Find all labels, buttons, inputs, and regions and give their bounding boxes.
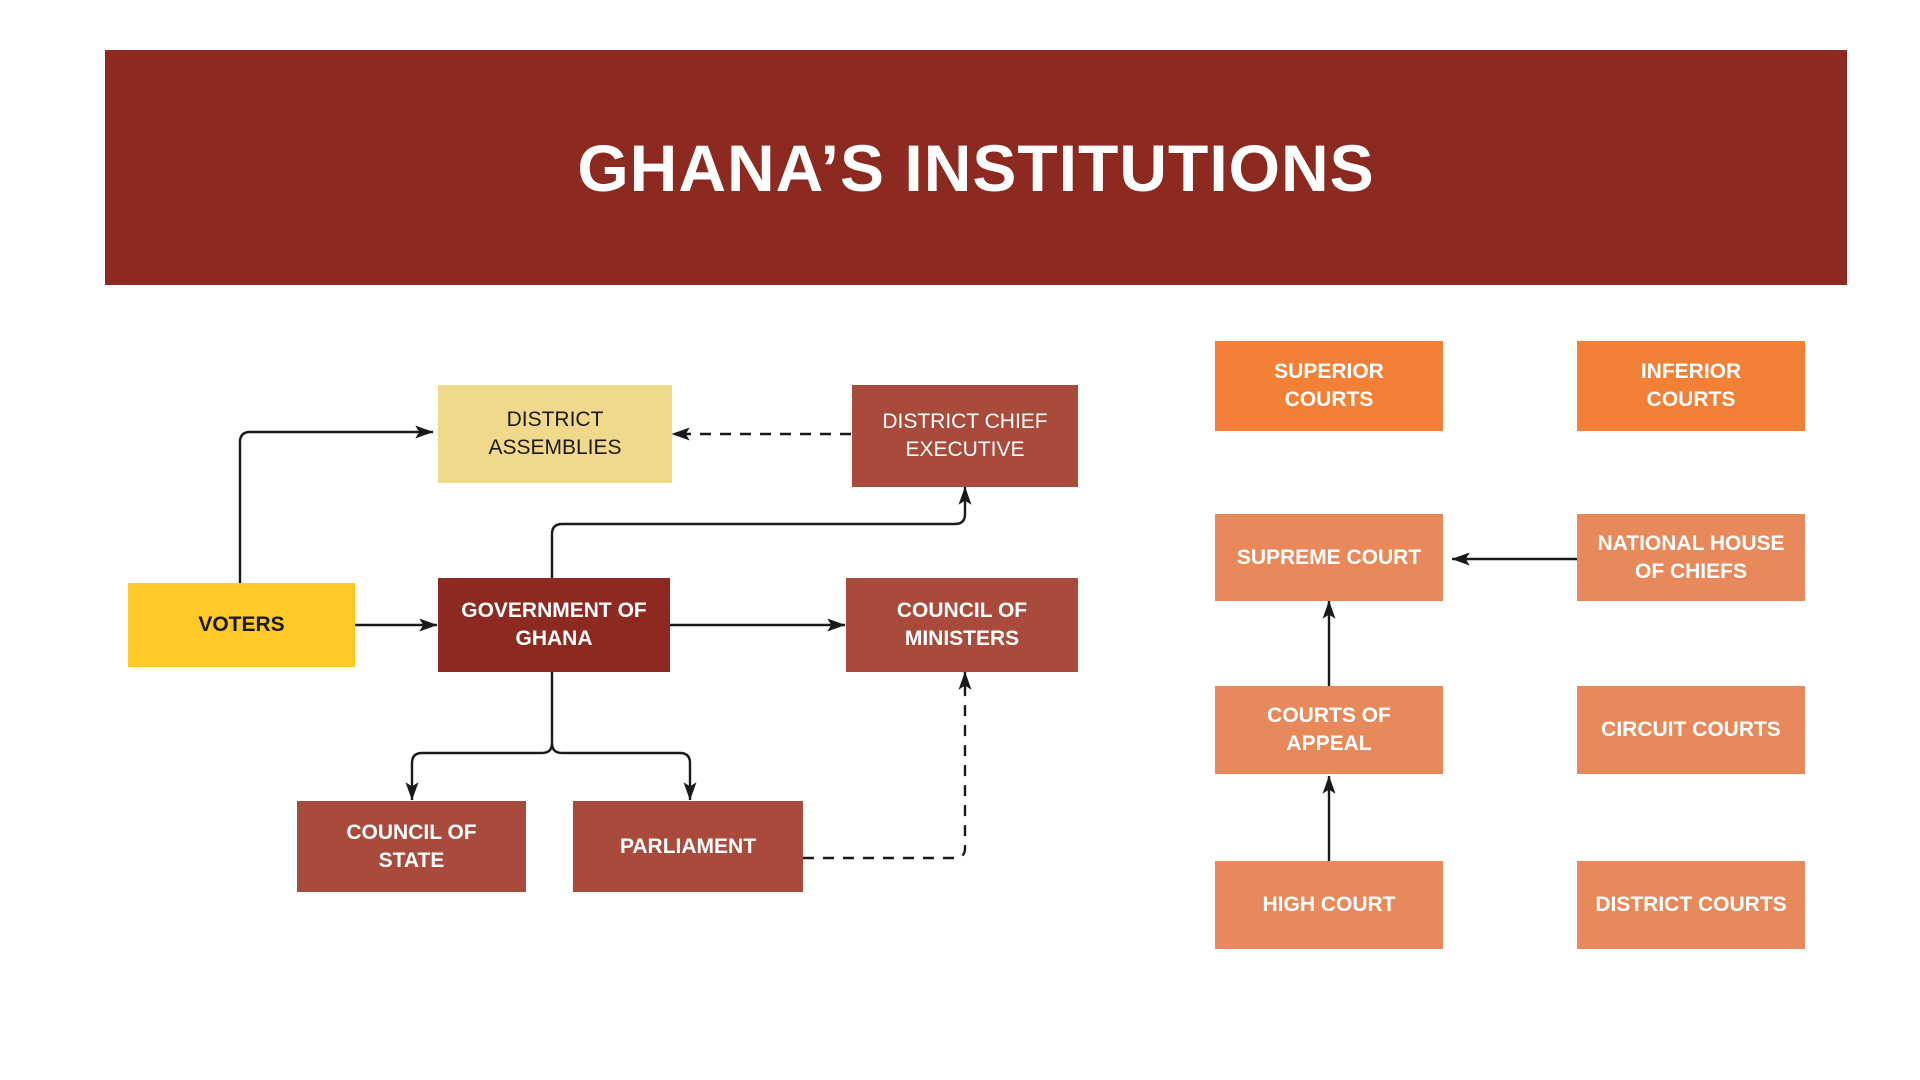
node-label: VOTERS xyxy=(136,611,347,639)
node-district-assemblies[interactable]: DISTRICT ASSEMBLIES xyxy=(438,385,672,483)
node-council-of-state[interactable]: COUNCIL OF STATE xyxy=(297,801,526,892)
node-courts-of-appeal[interactable]: COURTS OF APPEAL xyxy=(1215,686,1443,774)
node-council-of-ministers[interactable]: COUNCIL OF MINISTERS xyxy=(846,578,1078,672)
node-inferior-courts-header[interactable]: INFERIOR COURTS xyxy=(1577,341,1805,431)
node-supreme-court[interactable]: SUPREME COURT xyxy=(1215,514,1443,601)
edge-government-to-parliament xyxy=(552,743,690,800)
node-label: DISTRICT COURTS xyxy=(1585,891,1797,919)
node-label: SUPREME COURT xyxy=(1223,544,1435,572)
title-banner: GHANA’S INSTITUTIONS xyxy=(105,50,1847,285)
page-title: GHANA’S INSTITUTIONS xyxy=(577,130,1374,206)
slide-canvas: GHANA’S INSTITUTIONS xyxy=(0,0,1920,1080)
node-district-courts[interactable]: DISTRICT COURTS xyxy=(1577,861,1805,949)
node-label: CIRCUIT COURTS xyxy=(1585,716,1797,744)
node-national-house-of-chiefs[interactable]: NATIONAL HOUSE OF CHIEFS xyxy=(1577,514,1805,601)
node-label: COUNCIL OF STATE xyxy=(305,819,518,874)
edge-government-to-district-chief-executive xyxy=(552,487,965,578)
node-label: NATIONAL HOUSE OF CHIEFS xyxy=(1585,530,1797,585)
node-voters[interactable]: VOTERS xyxy=(128,583,355,667)
node-government-of-ghana[interactable]: GOVERNMENT OF GHANA xyxy=(438,578,670,672)
node-label: HIGH COURT xyxy=(1223,891,1435,919)
node-label: COURTS OF APPEAL xyxy=(1223,702,1435,757)
node-superior-courts-header[interactable]: SUPERIOR COURTS xyxy=(1215,341,1443,431)
node-label: GOVERNMENT OF GHANA xyxy=(446,597,662,652)
node-label: DISTRICT ASSEMBLIES xyxy=(446,406,664,461)
edge-voters-to-district-assemblies xyxy=(240,432,433,583)
node-label: DISTRICT CHIEF EXECUTIVE xyxy=(860,408,1070,463)
edge-government-to-council-of-state xyxy=(412,743,552,800)
node-high-court[interactable]: HIGH COURT xyxy=(1215,861,1443,949)
node-label: INFERIOR COURTS xyxy=(1585,358,1797,413)
edge-parliament-to-council-of-ministers xyxy=(803,672,965,858)
node-label: COUNCIL OF MINISTERS xyxy=(854,597,1070,652)
node-label: SUPERIOR COURTS xyxy=(1223,358,1435,413)
node-label: PARLIAMENT xyxy=(581,833,795,861)
node-circuit-courts[interactable]: CIRCUIT COURTS xyxy=(1577,686,1805,774)
node-parliament[interactable]: PARLIAMENT xyxy=(573,801,803,892)
node-district-chief-executive[interactable]: DISTRICT CHIEF EXECUTIVE xyxy=(852,385,1078,487)
